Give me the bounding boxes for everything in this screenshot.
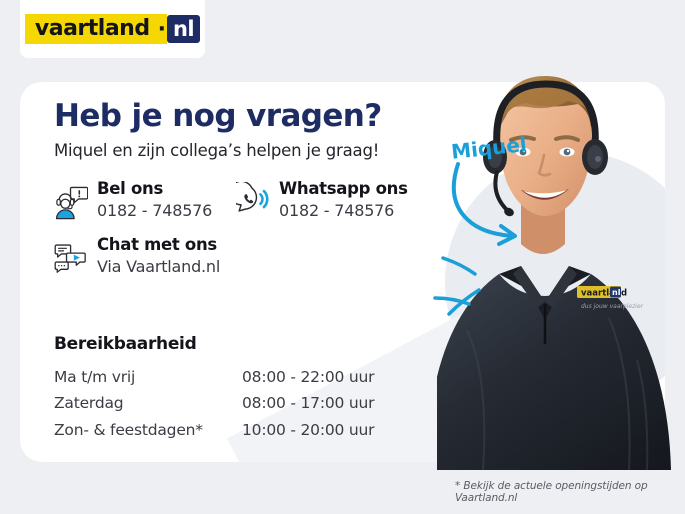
opening-hours: Bereikbaarheid Ma t/m vrij 08:00 - 22:00… (54, 334, 374, 443)
motion-lines-icon (435, 258, 479, 314)
table-row: Zaterdag 08:00 - 17:00 uur (54, 390, 374, 416)
svg-text:dus jouw vaarplezier: dus jouw vaarplezier (581, 303, 644, 310)
contact-channel-whatsapp-title: Whatsapp ons (279, 179, 408, 198)
opening-hours-day: Zon- & feestdagen* (54, 417, 242, 443)
contact-channel-chat[interactable]: Chat met ons Via Vaartland.nl (54, 236, 454, 278)
svg-text:nl: nl (612, 288, 621, 297)
contact-channels: Bel ons 0182 - 748576 Whats (54, 180, 454, 278)
opening-hours-time: 08:00 - 17:00 uur (242, 390, 374, 416)
contact-channel-call-text: Bel ons 0182 - 748576 (97, 180, 212, 222)
page-subtitle: Miquel en zijn collega’s helpen je graag… (54, 142, 382, 160)
vaartland-logo[interactable]: vaartland · nl (20, 0, 205, 58)
footnote: * Bekijk de actuele openingstijden op Va… (455, 480, 685, 504)
contact-channel-whatsapp[interactable]: Whatsapp ons 0182 - 748576 (236, 180, 436, 222)
contact-channel-call-title: Bel ons (97, 179, 163, 198)
opening-hours-time: 08:00 - 22:00 uur (242, 364, 374, 390)
contact-channel-chat-text: Chat met ons Via Vaartland.nl (97, 236, 220, 278)
logo-wordmark: vaartland (25, 14, 158, 44)
table-row: Ma t/m vrij 08:00 - 22:00 uur (54, 364, 374, 390)
contact-channel-call-number: 0182 - 748576 (97, 201, 212, 222)
opening-hours-title: Bereikbaarheid (54, 334, 374, 354)
headset-person-icon (54, 182, 88, 222)
logo-tld: nl (167, 15, 200, 43)
opening-hours-day: Zaterdag (54, 390, 242, 416)
logo-lockup: vaartland · nl (25, 14, 200, 44)
contact-channel-whatsapp-text: Whatsapp ons 0182 - 748576 (279, 180, 408, 222)
contact-channel-chat-link: Via Vaartland.nl (97, 257, 220, 278)
chat-bubbles-icon (54, 238, 88, 278)
contact-channels-row-1: Bel ons 0182 - 748576 Whats (54, 180, 454, 222)
opening-hours-table: Ma t/m vrij 08:00 - 22:00 uur Zaterdag 0… (54, 364, 374, 443)
whatsapp-icon (236, 182, 270, 222)
opening-hours-time: 10:00 - 20:00 uur (242, 417, 374, 443)
page-title: Heb je nog vragen? (54, 100, 382, 133)
opening-hours-day: Ma t/m vrij (54, 364, 242, 390)
curved-arrow-icon (425, 150, 575, 360)
contact-channel-whatsapp-number: 0182 - 748576 (279, 201, 408, 222)
promo-banner: Heb je nog vragen? Miquel en zijn colleg… (0, 0, 685, 514)
headline-block: Heb je nog vragen? Miquel en zijn colleg… (54, 100, 382, 160)
table-row: Zon- & feestdagen* 10:00 - 20:00 uur (54, 417, 374, 443)
logo-dot: · (158, 14, 167, 44)
contact-channel-call[interactable]: Bel ons 0182 - 748576 (54, 180, 236, 222)
contact-channel-chat-title: Chat met ons (97, 235, 217, 254)
